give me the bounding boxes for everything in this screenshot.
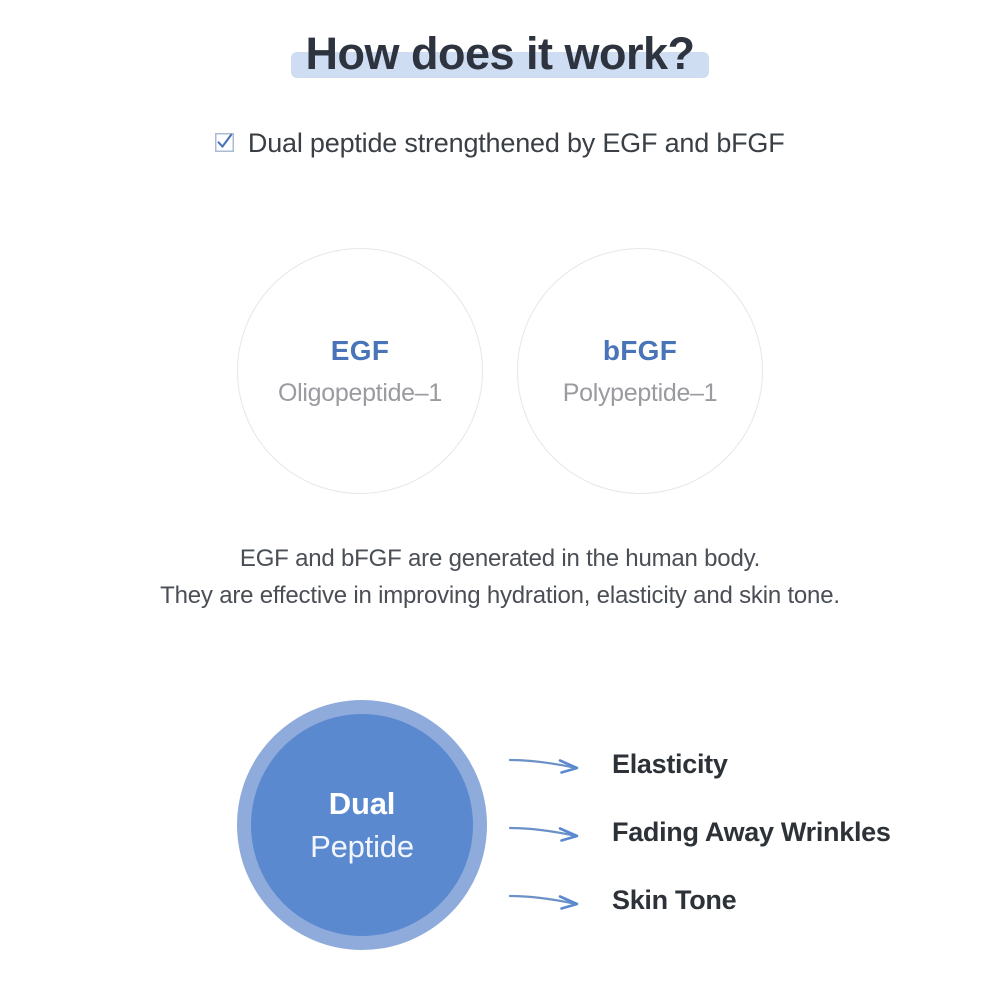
page-title: How does it work? bbox=[305, 28, 694, 79]
arrow-right-icon bbox=[508, 751, 586, 777]
page-title-block: How does it work? bbox=[0, 28, 1000, 80]
ingredient-name-bfgf: bFGF bbox=[603, 337, 677, 365]
dual-peptide-line-2: Peptide bbox=[310, 831, 414, 862]
product-info-page: How does it work? Dual peptide strengthe… bbox=[0, 0, 1000, 1000]
benefit-label: Elasticity bbox=[612, 749, 728, 780]
benefit-row: Elasticity bbox=[508, 730, 978, 798]
checked-checkbox-icon bbox=[215, 133, 234, 152]
ingredient-subtitle-bfgf: Polypeptide–1 bbox=[563, 381, 718, 406]
ingredient-name-egf: EGF bbox=[331, 337, 389, 365]
dual-peptide-line-1: Dual bbox=[329, 788, 395, 819]
benefit-label: Fading Away Wrinkles bbox=[612, 817, 891, 848]
description-line-2: They are effective in improving hydratio… bbox=[0, 577, 1000, 614]
title-inner: How does it work? bbox=[299, 28, 700, 80]
subheading-label: Dual peptide strengthened by EGF and bFG… bbox=[248, 128, 785, 159]
ingredient-subtitle-egf: Oligopeptide–1 bbox=[278, 381, 442, 406]
benefits-list: Elasticity Fading Away Wrinkles Skin Ton… bbox=[508, 730, 978, 934]
benefit-row: Fading Away Wrinkles bbox=[508, 798, 978, 866]
description-line-1: EGF and bFGF are generated in the human … bbox=[0, 540, 1000, 577]
subheading-row: Dual peptide strengthened by EGF and bFG… bbox=[0, 128, 1000, 159]
arrow-right-icon bbox=[508, 887, 586, 913]
description-paragraph: EGF and bFGF are generated in the human … bbox=[0, 540, 1000, 614]
ingredient-circle-bfgf: bFGF Polypeptide–1 bbox=[517, 248, 763, 494]
dual-peptide-inner: Dual Peptide bbox=[251, 714, 473, 936]
benefit-row: Skin Tone bbox=[508, 866, 978, 934]
arrow-right-icon bbox=[508, 819, 586, 845]
benefit-label: Skin Tone bbox=[612, 885, 736, 916]
ingredient-circle-egf: EGF Oligopeptide–1 bbox=[237, 248, 483, 494]
dual-peptide-circle: Dual Peptide bbox=[237, 700, 487, 950]
